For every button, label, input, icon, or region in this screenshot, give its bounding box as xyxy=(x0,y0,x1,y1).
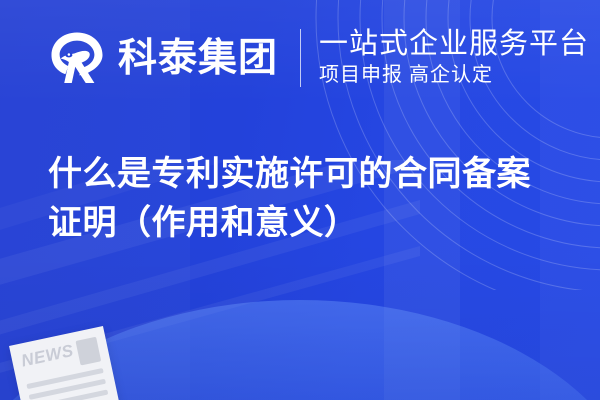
news-thumbnail-block xyxy=(75,337,101,366)
tagline-sub: 项目申报 高企认定 xyxy=(319,62,589,88)
ketai-circle-logo-icon xyxy=(48,29,106,87)
page-title: 什么是专利实施许可的合同备案 证明（作用和意义） xyxy=(48,150,554,249)
news-label: NEWS xyxy=(20,342,75,370)
tagline-group: 一站式企业服务平台 项目申报 高企认定 xyxy=(319,28,589,88)
brand-header: 科泰集团 一站式企业服务平台 项目申报 高企认定 xyxy=(48,22,589,94)
article-cover-banner: 科泰集团 一站式企业服务平台 项目申报 高企认定 什么是专利实施许可的合同备案 … xyxy=(0,0,600,400)
header-divider xyxy=(300,29,301,87)
page-title-line-2: 证明（作用和意义） xyxy=(48,199,554,248)
page-title-line-1: 什么是专利实施许可的合同备案 xyxy=(48,150,554,199)
tagline-main: 一站式企业服务平台 xyxy=(319,28,589,60)
brand-name: 科泰集团 xyxy=(118,39,278,78)
